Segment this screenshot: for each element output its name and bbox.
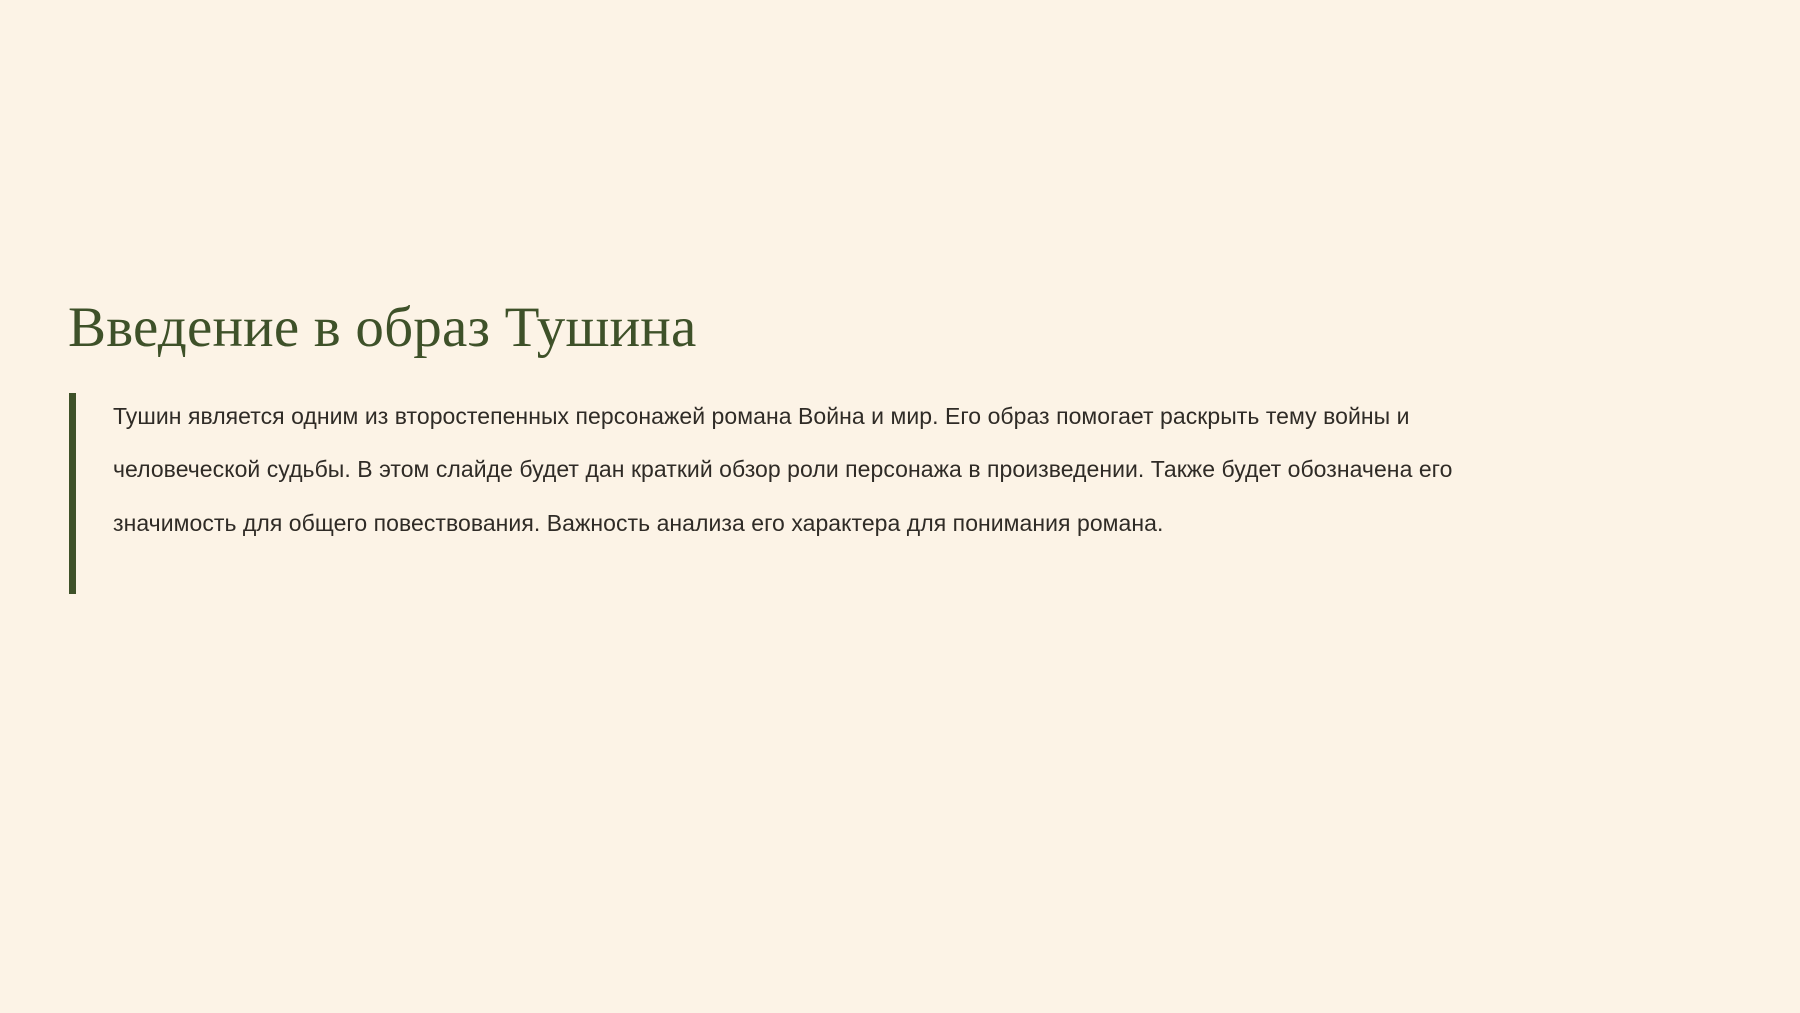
presentation-slide: Введение в образ Тушина Тушин является о…	[0, 0, 1800, 1013]
slide-body-text: Тушин является одним из второстепенных п…	[113, 390, 1508, 551]
accent-bar	[69, 393, 76, 594]
slide-content: Введение в образ Тушина Тушин является о…	[68, 296, 1568, 550]
body-block: Тушин является одним из второстепенных п…	[68, 390, 1568, 551]
slide-title: Введение в образ Тушина	[68, 296, 1568, 360]
